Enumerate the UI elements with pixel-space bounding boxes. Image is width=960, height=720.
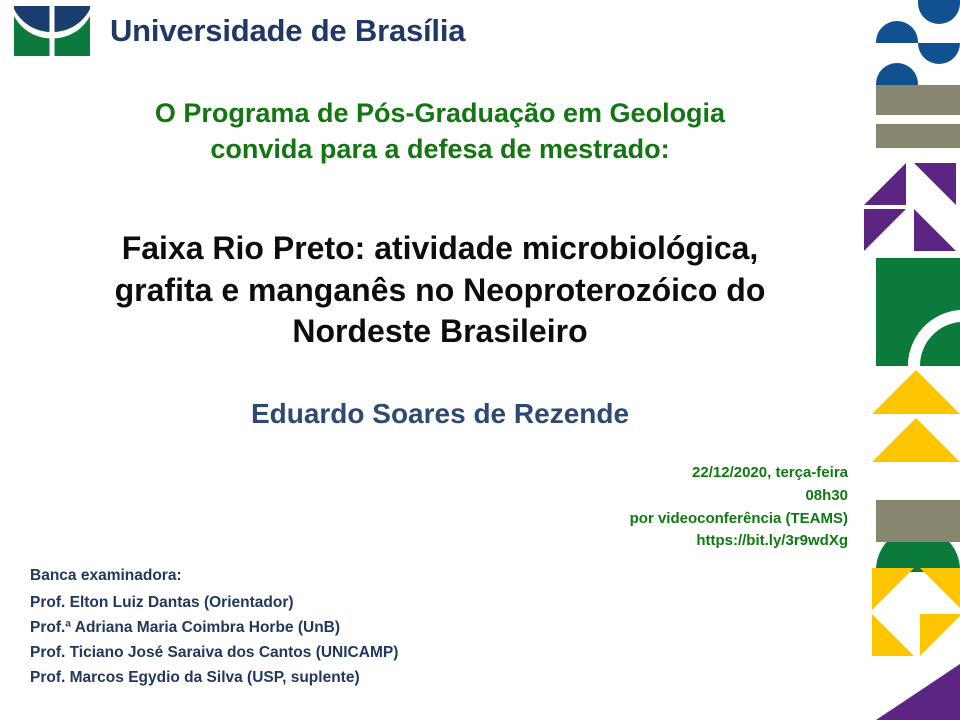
rail-green-arc-block <box>876 258 960 366</box>
event-time: 08h30 <box>630 485 848 508</box>
rail-khaki-block-3 <box>876 500 960 542</box>
rail-purple-triangle-bottom <box>876 664 960 720</box>
thesis-title: Faixa Rio Preto: atividade microbiológic… <box>30 228 850 353</box>
invitation-line-2: convida para a defesa de mestrado: <box>40 132 840 168</box>
unb-logo-icon <box>14 6 90 56</box>
poster-header: Universidade de Brasília <box>0 0 860 62</box>
rail-blue-half-circles <box>876 0 960 85</box>
thesis-title-line-3: Nordeste Brasileiro <box>30 311 850 353</box>
committee-heading: Banca examinadora: <box>30 563 398 588</box>
thesis-title-line-1: Faixa Rio Preto: atividade microbiológic… <box>30 228 850 270</box>
invitation-text: O Programa de Pós-Graduação em Geologia … <box>40 96 840 167</box>
committee-member: Prof. Ticiano José Saraiva dos Cantos (U… <box>30 640 398 665</box>
invitation-line-1: O Programa de Pós-Graduação em Geologia <box>40 96 840 132</box>
rail-khaki-block-2 <box>876 124 960 148</box>
decorative-rail <box>860 0 960 720</box>
rail-yellow-pinwheel <box>872 568 960 656</box>
thesis-defense-poster: Universidade de Brasília O Programa de P… <box>0 0 960 720</box>
committee-member: Prof.ª Adriana Maria Coimbra Horbe (UnB) <box>30 615 398 640</box>
author-name: Eduardo Soares de Rezende <box>30 398 850 430</box>
event-date: 22/12/2020, terça-feira <box>630 462 848 485</box>
committee-member: Prof. Marcos Egydio da Silva (USP, suple… <box>30 665 398 690</box>
event-link[interactable]: https://bit.ly/3r9wdXg <box>630 530 848 553</box>
event-info: 22/12/2020, terça-feira 08h30 por videoc… <box>630 462 848 553</box>
event-mode: por videoconferência (TEAMS) <box>630 508 848 531</box>
institution-name: Universidade de Brasília <box>110 13 465 49</box>
thesis-title-line-2: grafita e manganês no Neoproterozóico do <box>30 270 850 312</box>
rail-khaki-block-1 <box>876 85 960 115</box>
rail-purple-pinwheel <box>864 163 956 251</box>
rail-yellow-triangles <box>872 370 960 462</box>
committee-block: Banca examinadora: Prof. Elton Luiz Dant… <box>30 563 398 691</box>
committee-member: Prof. Elton Luiz Dantas (Orientador) <box>30 590 398 615</box>
